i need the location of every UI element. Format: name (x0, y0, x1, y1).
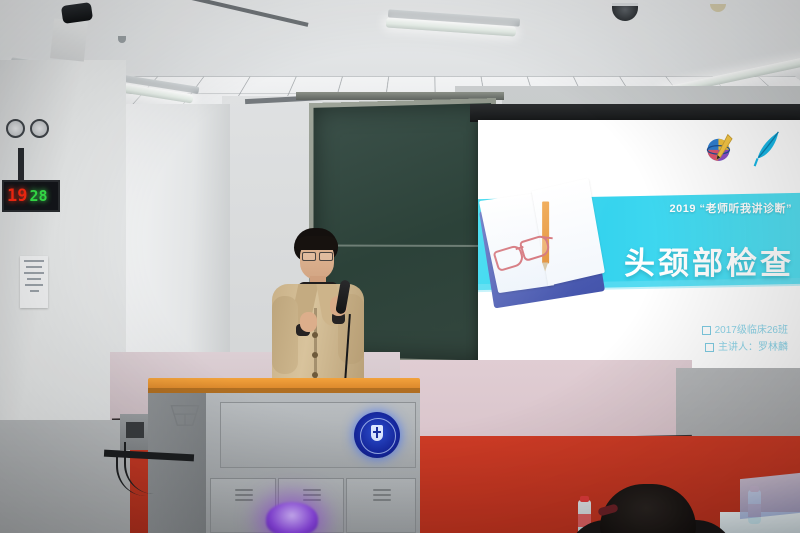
notice-text-line (27, 278, 41, 280)
vent-slot (235, 489, 253, 491)
checkbox-icon (705, 343, 714, 352)
open-book-icon (478, 177, 613, 324)
podium-cable-slot (126, 422, 144, 438)
led-wall-clock: 19 28 (2, 180, 60, 212)
coat-sleeve-left (272, 296, 298, 374)
vent-slot (303, 494, 321, 496)
notice-text-line (25, 284, 43, 286)
lens-left (302, 252, 316, 261)
vent-slot (373, 494, 391, 496)
presentation-slide: 2019 “老师听我讲诊断” 头颈部检查 2017级临床26班 主讲人：罗林麟 (478, 120, 800, 372)
coat-button (312, 332, 318, 338)
lecture-hall-photo: 19 28 (0, 0, 800, 533)
coat-button (312, 352, 318, 358)
foreground-object (740, 473, 800, 519)
camera-mount-bracket (50, 18, 88, 61)
bottle-cap (580, 496, 589, 502)
ceiling-conduit (161, 0, 308, 27)
clock-mount-bracket (18, 148, 24, 182)
clock-red-digits: 19 (7, 188, 27, 205)
slide-meta-text: 2017级临床26班 (715, 325, 788, 336)
smoke-detector (710, 4, 726, 12)
vent-slot (235, 494, 253, 496)
notice-text-line (24, 272, 44, 274)
wall-notice-paper (20, 256, 48, 308)
globe-pencil-icon (704, 132, 738, 166)
notice-text-line (30, 290, 39, 292)
floor-left-area (0, 420, 130, 533)
vent-slot (235, 499, 253, 501)
hand-left (300, 312, 317, 332)
slide-subtitle: 2019 “老师听我讲诊断” (669, 200, 792, 216)
gauge-dial (6, 119, 25, 138)
presenter (258, 228, 378, 396)
vent-slot (373, 499, 391, 501)
checkbox-icon (702, 326, 711, 335)
slide-meta-text: 主讲人：罗林麟 (718, 342, 788, 353)
slide-meta: 2017级临床26班 主讲人：罗林麟 (702, 322, 788, 356)
presenter-glasses-icon (302, 252, 332, 260)
sprinkler-head (118, 36, 126, 43)
wall-gauges (6, 118, 62, 138)
dome-security-camera (612, 6, 638, 21)
clock-green-digits: 28 (29, 189, 47, 204)
slide-meta-line: 2017级临床26班 (702, 322, 788, 339)
projection-screen: 2019 “老师听我讲诊断” 头颈部检查 2017级临床26班 主讲人：罗林麟 (478, 120, 800, 372)
hair-fringe (296, 236, 338, 250)
feather-quill-icon (752, 130, 782, 168)
notice-text-line (24, 260, 44, 262)
emblem-cross-horizontal (373, 431, 381, 433)
vent-slot (373, 489, 391, 491)
lens-right (319, 252, 333, 261)
purple-stage-light (266, 502, 318, 533)
gauge-dial (30, 119, 49, 138)
vent-slot (303, 499, 321, 501)
slide-title: 头颈部检查 (624, 238, 794, 283)
podium-cabinet-door[interactable] (346, 478, 416, 533)
slide-meta-line: 主讲人：罗林麟 (702, 339, 788, 356)
notice-text-line (26, 266, 42, 268)
podium-top-edge (148, 388, 420, 393)
vent-slot (303, 489, 321, 491)
trash-bin-icon (168, 402, 202, 428)
